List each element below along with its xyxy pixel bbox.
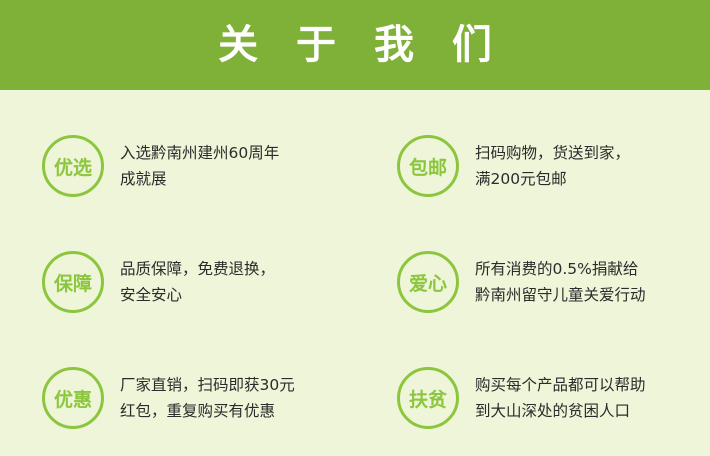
feature-text-line: 扫码购物，货送到家， xyxy=(475,140,630,166)
about-us-page: 关 于 我 们 优选 入选黔南州建州60周年 成就展 包邮 扫码购物，货送到家，… xyxy=(0,0,710,456)
feature-text: 入选黔南州建州60周年 成就展 xyxy=(120,140,279,192)
feature-badge: 优选 xyxy=(42,135,104,197)
feature-item-baozhang: 保障 品质保障，免费退换， 安全安心 xyxy=(0,224,355,340)
feature-text: 厂家直销，扫码即获30元 红包，重复购买有优惠 xyxy=(120,372,295,424)
feature-text-line: 满200元包邮 xyxy=(475,166,630,192)
feature-text-line: 黔南州留守儿童关爱行动 xyxy=(475,282,646,308)
feature-text-line: 入选黔南州建州60周年 xyxy=(120,140,279,166)
feature-item-youhui: 优惠 厂家直销，扫码即获30元 红包，重复购买有优惠 xyxy=(0,340,355,456)
feature-text-line: 品质保障，免费退换， xyxy=(120,256,275,282)
feature-text: 扫码购物，货送到家， 满200元包邮 xyxy=(475,140,630,192)
feature-text-line: 厂家直销，扫码即获30元 xyxy=(120,372,295,398)
features-section: 优选 入选黔南州建州60周年 成就展 包邮 扫码购物，货送到家， 满200元包邮… xyxy=(0,90,710,456)
page-header: 关 于 我 们 xyxy=(0,0,710,90)
feature-text: 购买每个产品都可以帮助 到大山深处的贫困人口 xyxy=(475,372,646,424)
feature-badge: 爱心 xyxy=(397,251,459,313)
feature-text-line: 所有消费的0.5%捐献给 xyxy=(475,256,646,282)
feature-text-line: 到大山深处的贫困人口 xyxy=(475,398,646,424)
feature-text-line: 红包，重复购买有优惠 xyxy=(120,398,295,424)
page-title: 关 于 我 们 xyxy=(206,25,504,65)
feature-text: 所有消费的0.5%捐献给 黔南州留守儿童关爱行动 xyxy=(475,256,646,308)
feature-badge: 优惠 xyxy=(42,367,104,429)
feature-text-line: 安全安心 xyxy=(120,282,275,308)
features-grid: 优选 入选黔南州建州60周年 成就展 包邮 扫码购物，货送到家， 满200元包邮… xyxy=(0,108,710,456)
feature-text: 品质保障，免费退换， 安全安心 xyxy=(120,256,275,308)
feature-text-line: 购买每个产品都可以帮助 xyxy=(475,372,646,398)
feature-badge: 保障 xyxy=(42,251,104,313)
feature-badge: 包邮 xyxy=(397,135,459,197)
feature-badge: 扶贫 xyxy=(397,367,459,429)
feature-item-aixin: 爱心 所有消费的0.5%捐献给 黔南州留守儿童关爱行动 xyxy=(355,224,710,340)
feature-item-baoyou: 包邮 扫码购物，货送到家， 满200元包邮 xyxy=(355,108,710,224)
feature-item-fupin: 扶贫 购买每个产品都可以帮助 到大山深处的贫困人口 xyxy=(355,340,710,456)
feature-text-line: 成就展 xyxy=(120,166,279,192)
feature-item-youxuan: 优选 入选黔南州建州60周年 成就展 xyxy=(0,108,355,224)
